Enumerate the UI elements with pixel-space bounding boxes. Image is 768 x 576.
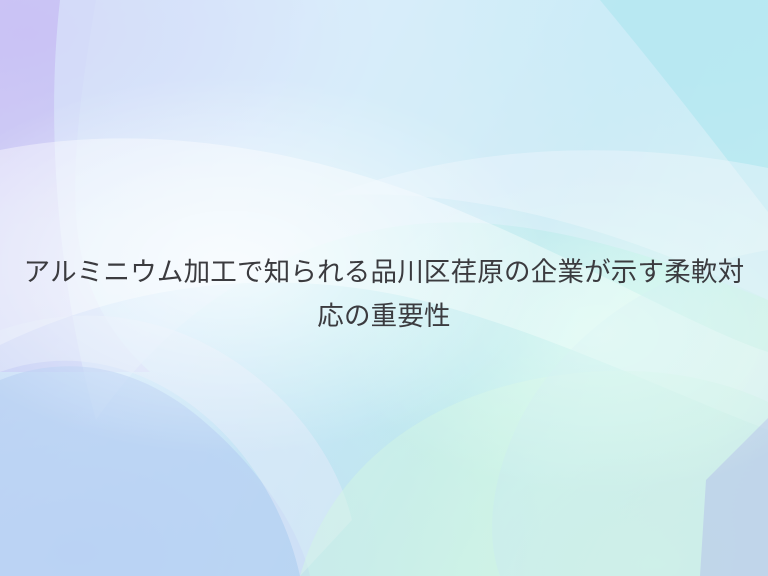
slide-title-container: アルミニウム加工で知られる品川区荏原の企業が示す柔軟対応の重要性 <box>0 233 768 357</box>
slide-title: アルミニウム加工で知られる品川区荏原の企業が示す柔軟対応の重要性 <box>23 251 745 339</box>
slide-canvas: アルミニウム加工で知られる品川区荏原の企業が示す柔軟対応の重要性 <box>0 0 768 576</box>
